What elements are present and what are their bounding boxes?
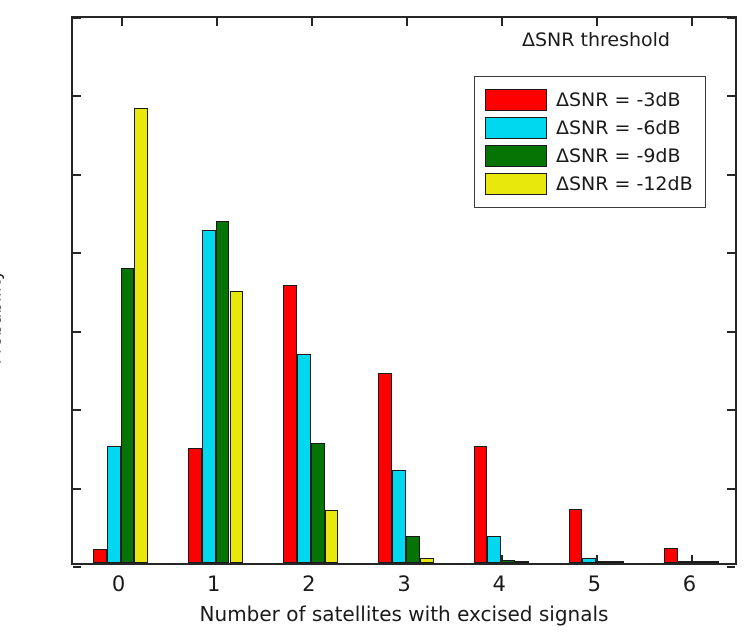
y-tick-mark (73, 252, 81, 254)
y-tick-mark (73, 488, 81, 490)
bar (691, 561, 705, 564)
x-tick-mark (501, 18, 503, 26)
x-tick-mark (311, 18, 313, 26)
bar (202, 230, 216, 563)
y-tick-mark (727, 95, 735, 97)
bar (406, 536, 420, 563)
bar-chart-figure: Probability 00.10.20.30.40.50.60.7 01234… (0, 0, 749, 633)
bar (134, 108, 148, 563)
legend-item: ΔSNR = -3dB (485, 86, 697, 114)
y-tick-mark (727, 331, 735, 333)
bar (501, 560, 515, 563)
y-tick-mark (727, 174, 735, 176)
y-axis-label: Probability (0, 269, 6, 364)
bar (596, 561, 610, 564)
legend-label: ΔSNR = -3dB (556, 89, 681, 111)
x-tick-mark (596, 18, 598, 26)
bar (107, 446, 121, 563)
bar (283, 285, 297, 563)
bar (487, 536, 501, 563)
y-tick-mark (727, 409, 735, 411)
x-tick-label: 5 (588, 572, 601, 596)
y-tick-mark (73, 409, 81, 411)
y-tick-mark (727, 17, 735, 19)
bar (582, 558, 596, 563)
bar (378, 373, 392, 563)
legend-item: ΔSNR = -6dB (485, 114, 697, 142)
x-axis-label: Number of satellites with excised signal… (200, 602, 609, 626)
bar (297, 354, 311, 563)
legend-swatch (485, 173, 547, 195)
bar (705, 561, 719, 564)
x-tick-mark (406, 18, 408, 26)
bar (515, 561, 529, 564)
y-tick-mark (73, 566, 81, 568)
x-tick-label: 2 (302, 572, 315, 596)
bar (93, 549, 107, 563)
bar (664, 548, 678, 563)
bar (678, 561, 692, 564)
bar (121, 268, 135, 563)
bar (311, 443, 325, 563)
x-tick-mark (691, 18, 693, 26)
legend-swatch (485, 89, 547, 111)
legend-item: ΔSNR = -12dB (485, 170, 697, 198)
bar (230, 291, 244, 563)
y-tick-mark (73, 331, 81, 333)
bar (188, 448, 202, 563)
x-tick-mark (121, 18, 123, 26)
x-tick-label: 4 (492, 572, 505, 596)
legend-swatch (485, 117, 547, 139)
y-tick-mark (73, 174, 81, 176)
legend-label: ΔSNR = -12dB (556, 173, 693, 195)
y-tick-mark (727, 488, 735, 490)
legend-swatch (485, 145, 547, 167)
bar (216, 221, 230, 563)
bar (610, 561, 624, 564)
bar (420, 558, 434, 563)
legend-label: ΔSNR = -9dB (556, 145, 681, 167)
legend-title: ΔSNR threshold (522, 29, 670, 51)
bar (325, 510, 339, 563)
y-tick-mark (73, 95, 81, 97)
y-tick-mark (727, 252, 735, 254)
legend: ΔSNR = -3dBΔSNR = -6dBΔSNR = -9dBΔSNR = … (474, 76, 706, 208)
x-tick-label: 6 (683, 572, 696, 596)
y-tick-mark (73, 17, 81, 19)
bar (474, 446, 488, 563)
bar (392, 470, 406, 563)
x-tick-label: 0 (112, 572, 125, 596)
x-tick-label: 1 (207, 572, 220, 596)
legend-label: ΔSNR = -6dB (556, 117, 681, 139)
x-tick-mark (216, 18, 218, 26)
y-tick-mark (727, 566, 735, 568)
legend-item: ΔSNR = -9dB (485, 142, 697, 170)
bar (569, 509, 583, 563)
x-tick-label: 3 (397, 572, 410, 596)
